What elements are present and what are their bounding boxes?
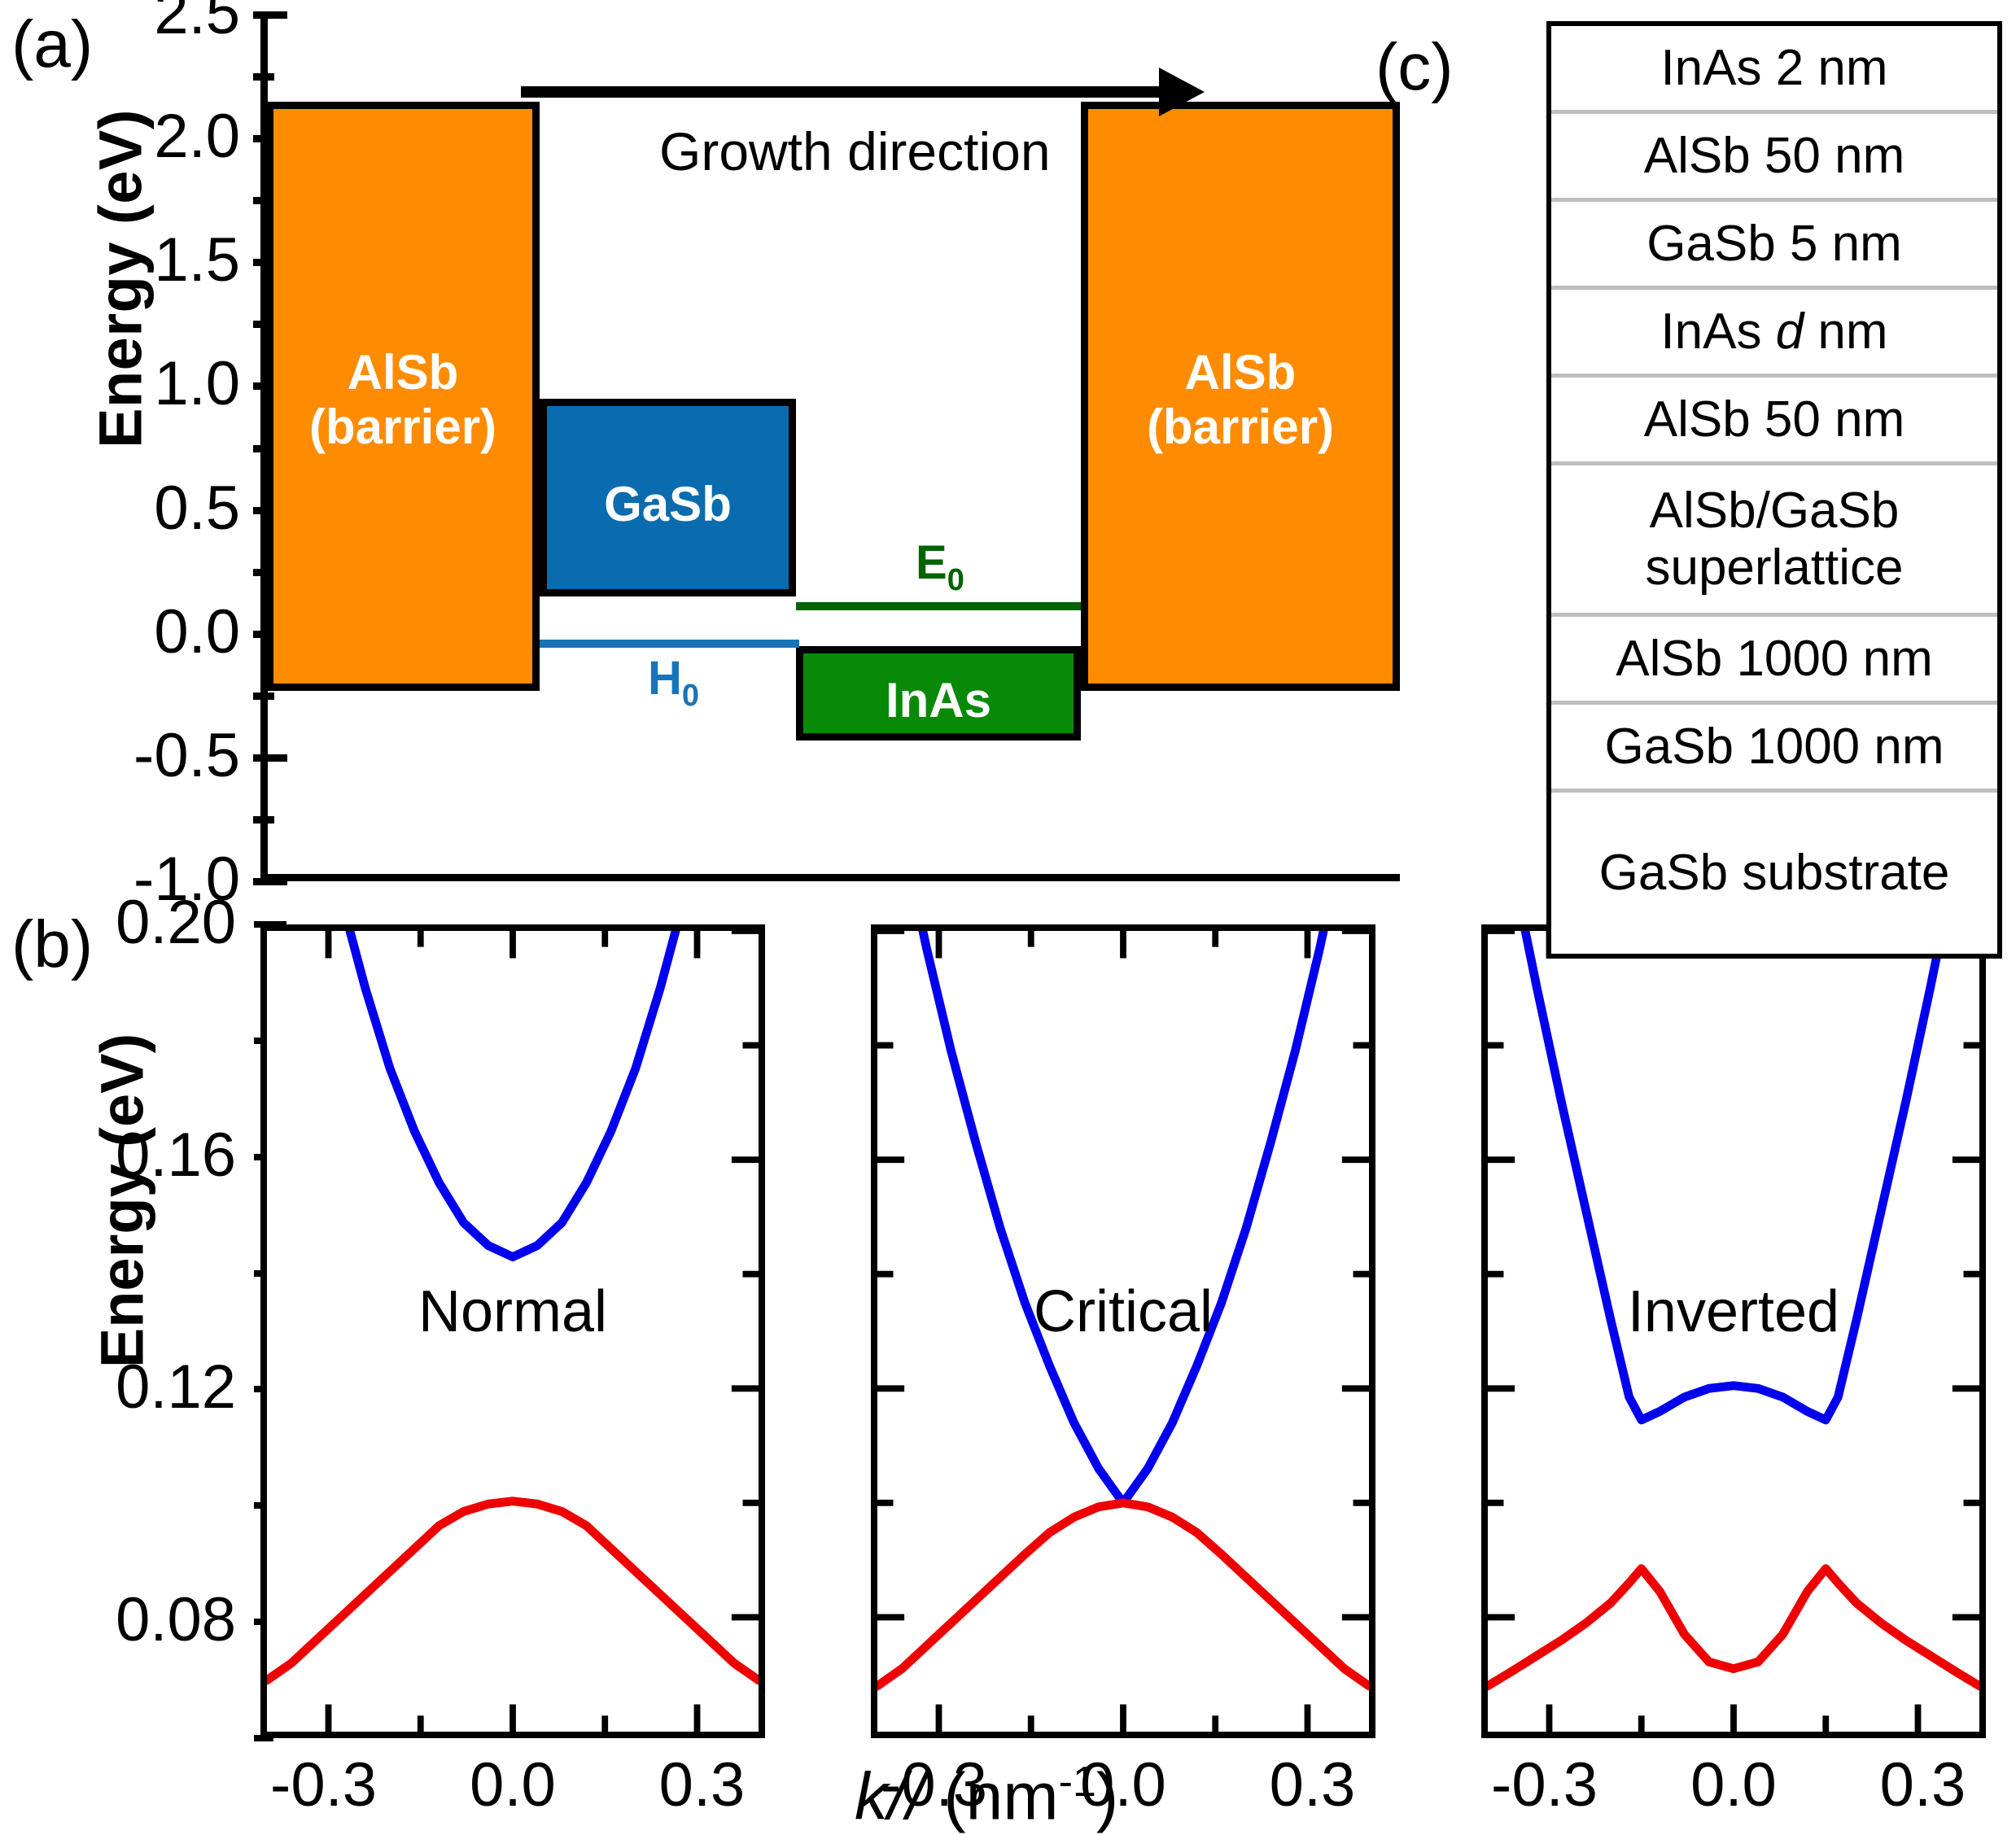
band-block-gasb: GaSb bbox=[540, 399, 796, 596]
layer-stack-table: InAs 2 nmAlSb 50 nmGaSb 5 nmInAs d nmAlS… bbox=[1546, 21, 2002, 959]
subplot-title-inverted: Inverted bbox=[1587, 1278, 1880, 1345]
panel-a-y-tick-label: 2.5 bbox=[28, 0, 240, 44]
panel-b-x-tick-label: -0.3 bbox=[218, 1754, 430, 1816]
layer-stack-row: GaSb 5 nm bbox=[1551, 202, 1997, 290]
panel-b-x-tick-label: 0.3 bbox=[1207, 1754, 1419, 1816]
panel-a-y-tick-label: 1.0 bbox=[28, 353, 240, 415]
growth-direction-arrow-line bbox=[521, 86, 1172, 98]
growth-direction-arrow-head bbox=[1159, 68, 1205, 116]
band-block-label: AlSb(barrier) bbox=[273, 345, 532, 454]
panel-b-band-dispersion: (b) Energy (eV) 0.200.160.120.08 Normal-… bbox=[0, 910, 2016, 1831]
panel-a-y-tick-label: -0.5 bbox=[28, 725, 240, 787]
layer-stack-row: AlSb 50 nm bbox=[1551, 114, 1997, 202]
layer-stack-label: InAs d nm bbox=[1660, 304, 1887, 360]
layer-stack-label: AlSb 50 nm bbox=[1644, 391, 1905, 448]
layer-stack-row: AlSb/GaSb superlattice bbox=[1551, 465, 1997, 617]
band-block-label: AlSb(barrier) bbox=[1088, 345, 1393, 454]
panel-c-tag: (c) bbox=[1375, 34, 1454, 101]
panel-a-y-tick-label: 0.0 bbox=[28, 601, 240, 663]
panel-a-y-tick-label: 2.0 bbox=[28, 106, 240, 168]
layer-stack-label: GaSb substrate bbox=[1599, 845, 1950, 901]
panel-c-layer-stack: (c) InAs 2 nmAlSb 50 nmGaSb 5 nmInAs d n… bbox=[1546, 21, 2002, 959]
energy-level-e0-label: E0 bbox=[916, 540, 964, 587]
layer-stack-row: InAs 2 nm bbox=[1551, 26, 1997, 114]
panel-b-x-axis-label: k// (nm-1) bbox=[855, 1758, 1118, 1835]
x-axis-unit-exponent: -1 bbox=[1059, 1759, 1096, 1806]
panel-a-y-tick-minor bbox=[253, 816, 274, 824]
layer-stack-row: InAs d nm bbox=[1551, 290, 1997, 378]
band-block-label: InAs bbox=[803, 673, 1074, 727]
x-axis-k-symbol: k bbox=[855, 1759, 888, 1833]
panel-b-y-tick-label: 0.16 bbox=[0, 1125, 236, 1186]
band-block-label: GaSb bbox=[547, 477, 789, 531]
panel-b-x-tick-label: -0.3 bbox=[1439, 1754, 1651, 1816]
panel-a-y-tick-minor bbox=[253, 692, 274, 700]
layer-stack-row: GaSb 1000 nm bbox=[1551, 705, 1997, 793]
subplot-title-normal: Normal bbox=[366, 1278, 659, 1345]
layer-stack-label: AlSb/GaSb superlattice bbox=[1555, 483, 1994, 596]
band-block-alsb-barrier: AlSb(barrier) bbox=[1081, 102, 1400, 691]
layer-stack-label: AlSb 50 nm bbox=[1644, 128, 1905, 184]
panel-a-y-tick-minor bbox=[253, 73, 274, 81]
layer-stack-label: AlSb 1000 nm bbox=[1616, 631, 1932, 687]
layer-stack-label: GaSb 1000 nm bbox=[1604, 719, 1944, 775]
band-block-inas: InAs bbox=[796, 646, 1081, 741]
panel-a-y-tick-label: 0.5 bbox=[28, 478, 240, 540]
panel-b-y-axis-label: Energy (eV) bbox=[88, 990, 157, 1413]
x-axis-unit-close: ) bbox=[1096, 1759, 1118, 1833]
panel-b-y-tick-label: 0.08 bbox=[0, 1589, 236, 1651]
energy-level-h0-label: H0 bbox=[648, 655, 699, 702]
subplot-title-critical: Critical bbox=[977, 1278, 1270, 1345]
panel-a-y-tick-major bbox=[253, 11, 287, 19]
panel-b-x-tick-label: 0.0 bbox=[407, 1754, 619, 1816]
panel-a-y-tick-major bbox=[253, 754, 287, 762]
x-axis-parallel-sub: // bbox=[888, 1759, 925, 1833]
panel-a-y-tick-major bbox=[253, 878, 287, 885]
x-axis-unit-open: (nm bbox=[925, 1759, 1059, 1833]
panel-b-x-tick-label: 0.3 bbox=[1817, 1754, 2016, 1816]
panel-b-y-tick-label: 0.20 bbox=[0, 892, 236, 954]
growth-direction-label: Growth direction bbox=[659, 120, 1051, 182]
panel-b-x-tick-label: 0.0 bbox=[1628, 1754, 1839, 1816]
band-block-alsb-barrier: AlSb(barrier) bbox=[266, 102, 540, 691]
panel-a-y-tick-label: 1.5 bbox=[28, 229, 240, 291]
energy-level-e0-line bbox=[796, 602, 1081, 610]
panel-a-band-diagram: (a) Energy (eV) 2.52.01.51.00.50.0-0.5-1… bbox=[0, 0, 1432, 911]
panel-b-x-tick-label: 0.3 bbox=[597, 1754, 808, 1816]
layer-stack-row: GaSb substrate bbox=[1551, 793, 1997, 954]
layer-stack-label: GaSb 5 nm bbox=[1646, 216, 1902, 272]
panel-b-y-tick-label: 0.12 bbox=[0, 1357, 236, 1418]
layer-stack-row: AlSb 50 nm bbox=[1551, 378, 1997, 465]
layer-stack-row: AlSb 1000 nm bbox=[1551, 617, 1997, 705]
energy-level-h0-line bbox=[540, 640, 799, 648]
layer-stack-label: InAs 2 nm bbox=[1660, 40, 1887, 96]
